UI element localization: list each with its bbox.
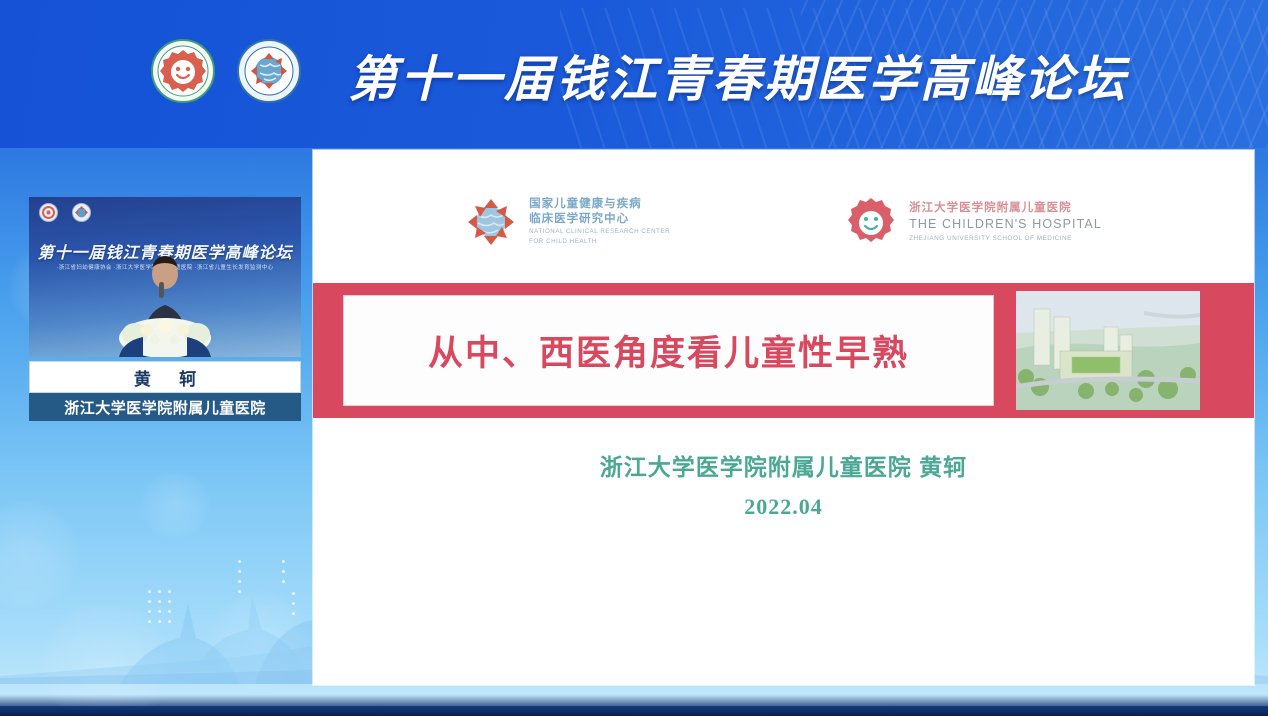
video-logo-group xyxy=(39,203,91,222)
speaker-name: 黄 轲 xyxy=(29,361,301,393)
bokeh-circle xyxy=(40,600,170,716)
logo-cn-line1: 国家儿童健康与疾病 xyxy=(529,197,670,211)
national-research-center-emblem-icon xyxy=(236,38,302,104)
bokeh-circle xyxy=(140,470,210,540)
childrens-hospital-emblem-icon xyxy=(39,203,58,222)
slide-affiliation-line: 浙江大学医学院附属儿童医院 黄轲 xyxy=(313,450,1254,485)
childrens-hospital-zju-logo: 浙江大学医学院附属儿童医院 THE CHILDREN'S HOSPITAL ZH… xyxy=(845,196,1102,248)
slide-date: 2022.04 xyxy=(313,494,1254,520)
speaker-figure xyxy=(105,252,225,357)
slide-title-band: 从中、西医角度看儿童性早熟 xyxy=(313,283,1254,418)
bokeh-circle xyxy=(0,500,80,610)
slide-content[interactable]: 国家儿童健康与疾病 临床医学研究中心 NATIONAL CLINICAL RES… xyxy=(313,150,1254,685)
childrens-hospital-emblem-icon xyxy=(150,38,216,104)
logo-cn-line1: 浙江大学医学院附属儿童医院 xyxy=(909,201,1102,215)
slide-title-box: 从中、西医角度看儿童性早熟 xyxy=(343,295,994,406)
logo-text-block: 浙江大学医学院附属儿童医院 THE CHILDREN'S HOSPITAL ZH… xyxy=(909,201,1102,244)
slide-title: 从中、西医角度看儿童性早熟 xyxy=(428,325,909,376)
national-clinical-research-center-logo: 国家儿童健康与疾病 临床医学研究中心 NATIONAL CLINICAL RES… xyxy=(465,196,670,248)
national-research-center-emblem-icon xyxy=(72,203,91,222)
bottom-bar xyxy=(0,706,1268,716)
campus-aerial-photo xyxy=(1016,291,1200,410)
speaker-panel[interactable]: 第十一届钱江青春期医学高峰论坛 ·浙江省妇幼健康协会 ·浙江大学医学院附属儿童医… xyxy=(29,197,301,421)
logo-text-block: 国家儿童健康与疾病 临床医学研究中心 NATIONAL CLINICAL RES… xyxy=(529,197,670,246)
speaker-affiliation: 浙江大学医学院附属儿童医院 xyxy=(29,393,301,421)
presentation-viewer: 第十一届钱江青春期医学高峰论坛 xyxy=(0,0,1268,716)
speaker-video-thumbnail[interactable]: 第十一届钱江青春期医学高峰论坛 ·浙江省妇幼健康协会 ·浙江大学医学院附属儿童医… xyxy=(29,197,301,357)
bear-face-icon xyxy=(845,196,897,248)
header-logo-group xyxy=(150,38,302,104)
logo-en-line2: FOR CHILD HEALTH xyxy=(529,238,670,246)
forum-title: 第十一届钱江青春期医学高峰论坛 xyxy=(348,40,1128,111)
slide-logo-row: 国家儿童健康与疾病 临床医学研究中心 NATIONAL CLINICAL RES… xyxy=(313,196,1254,248)
forum-header: 第十一届钱江青春期医学高峰论坛 xyxy=(0,0,1268,148)
slide-footer: 浙江大学医学院附属儿童医院 黄轲 2022.04 xyxy=(313,450,1254,520)
logo-cn-line2: 临床医学研究中心 xyxy=(529,212,670,226)
logo-en-line2: ZHEJIANG UNIVERSITY SCHOOL OF MEDICINE xyxy=(909,235,1102,244)
logo-en-line1: THE CHILDREN'S HOSPITAL xyxy=(909,216,1102,233)
bokeh-circle xyxy=(210,590,310,690)
globe-arrows-icon xyxy=(465,196,517,248)
logo-en-line1: NATIONAL CLINICAL RESEARCH CENTER xyxy=(529,228,670,236)
